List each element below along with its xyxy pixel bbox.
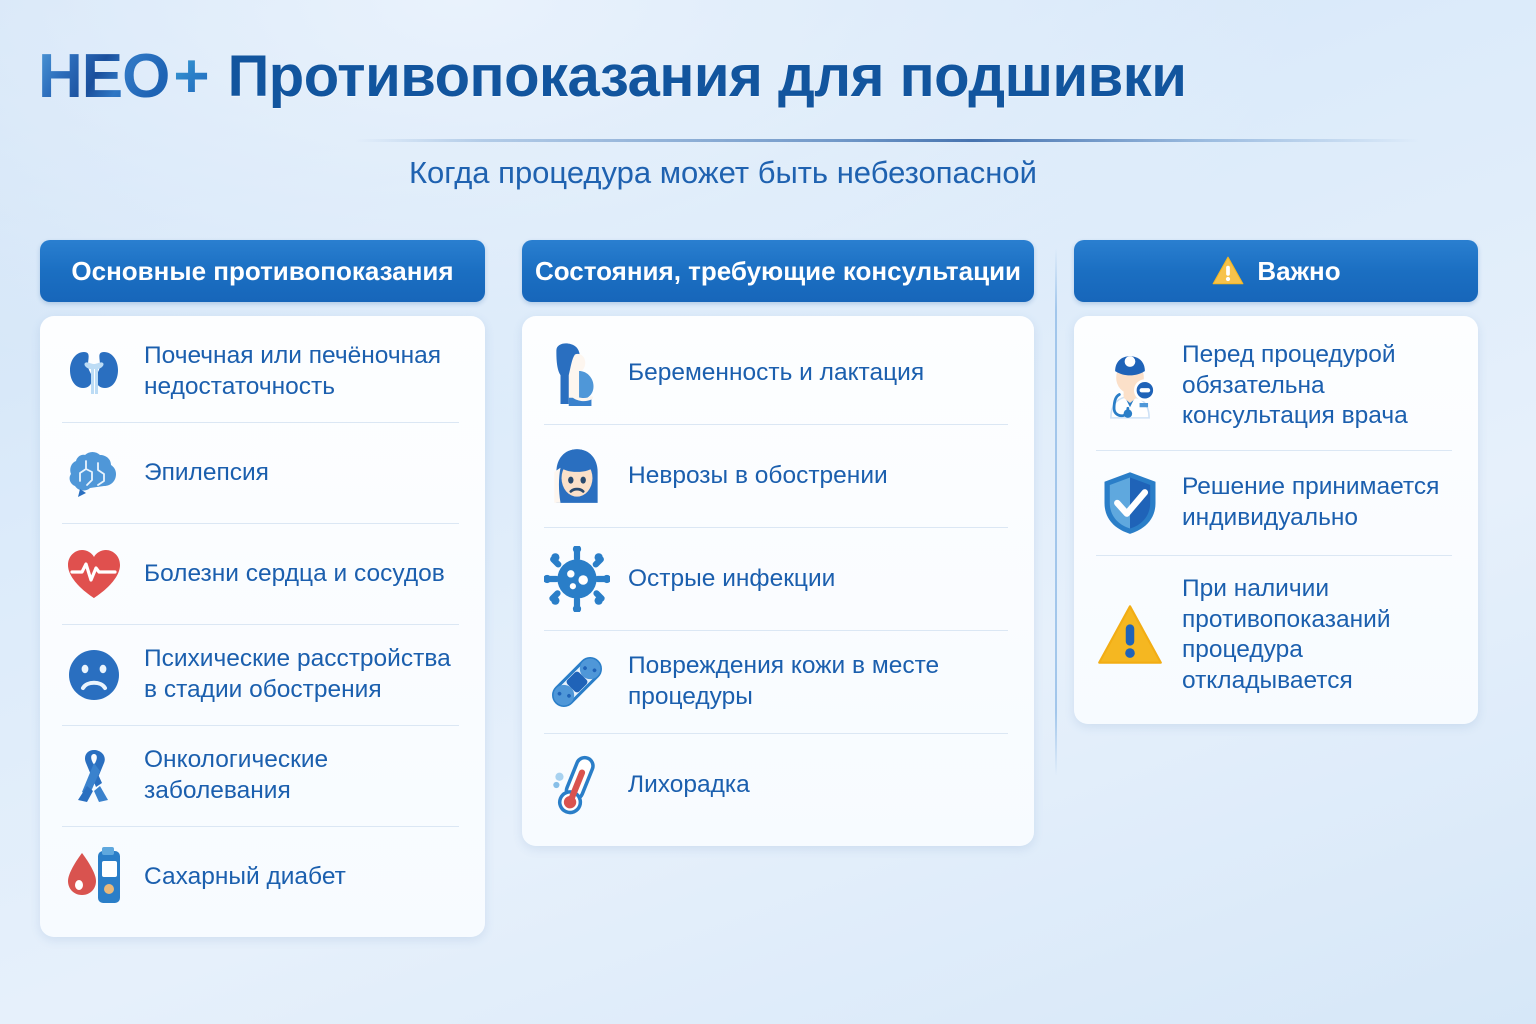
page-title: Противопоказания для подшивки [228, 48, 1187, 106]
list-item[interactable]: Повреждения кожи в месте процедуры [544, 631, 1008, 734]
column-header-label: Важно [1257, 256, 1340, 287]
brain-icon [62, 441, 126, 505]
list-item-label: Онкологические заболевания [144, 745, 459, 806]
list-item-label: Болезни сердца и сосудов [144, 559, 445, 590]
list-item[interactable]: Неврозы в обострении [544, 425, 1008, 528]
list-item[interactable]: Психические расстройства в стадии обостр… [62, 625, 459, 726]
list-item[interactable]: Острые инфекции [544, 528, 1008, 631]
page-header: HEO + Противопоказания для подшивки Когд… [0, 0, 1536, 210]
brand-and-title: HEO + Противопоказания для подшивки [38, 46, 1186, 108]
list-item-label: Неврозы в обострении [628, 461, 888, 492]
list-item[interactable]: Сахарный диабет [62, 827, 459, 927]
column-header-label: Основные противопоказания [71, 256, 453, 287]
list-item-label: Острые инфекции [628, 564, 835, 595]
kidneys-icon [62, 340, 126, 404]
list-item[interactable]: Онкологические заболевания [62, 726, 459, 827]
column-header-main-contraindications: Основные противопоказания [40, 240, 485, 302]
list-item-label: Психические расстройства в стадии обостр… [144, 644, 459, 705]
list-item[interactable]: Эпилепсия [62, 423, 459, 524]
heart-pulse-icon [62, 542, 126, 606]
list-item-label: Эпилепсия [144, 458, 269, 489]
column-header-label: Состояния, требующие консультации [535, 256, 1021, 287]
list-item[interactable]: Болезни сердца и сосудов [62, 524, 459, 625]
column-header-consultation-required: Состояния, требующие консультации [522, 240, 1034, 302]
brand-logo: HEO + [38, 46, 210, 108]
warning-triangle-icon [1211, 254, 1245, 288]
warning-triangle-icon [1096, 601, 1164, 669]
glucometer-blood-drop-icon [62, 845, 126, 909]
doctor-icon [1096, 352, 1164, 420]
pregnant-woman-icon [544, 340, 610, 406]
column-body-important: Перед процедурой обязательна консультаци… [1074, 316, 1478, 724]
column-body-consultation-required: Беременность и лактация Неврозы в обостр… [522, 316, 1034, 846]
list-item-label: Почечная или печёночная недостаточность [144, 341, 459, 402]
list-item-label: При наличии противопоказаний процедура о… [1182, 574, 1452, 697]
list-item-label: Лихорадка [628, 770, 750, 801]
list-item-label: Повреждения кожи в месте процедуры [628, 651, 1008, 712]
column-divider [1055, 248, 1057, 776]
list-item-label: Решение принимается индивидуально [1182, 472, 1452, 533]
bandage-icon [544, 649, 610, 715]
list-item[interactable]: Решение принимается индивидуально [1096, 451, 1452, 556]
page-subtitle: Когда процедура может быть небезопасной [0, 155, 1446, 191]
column-body-main-contraindications: Почечная или печёночная недостаточность … [40, 316, 485, 937]
list-item[interactable]: Перед процедурой обязательна консультаци… [1096, 322, 1452, 451]
list-item-label: Перед процедурой обязательна консультаци… [1182, 340, 1452, 432]
awareness-ribbon-icon [62, 744, 126, 808]
column-important: Важно Перед процедурой обязательна [1074, 240, 1478, 724]
list-item[interactable]: При наличии противопоказаний процедура о… [1096, 556, 1452, 715]
column-main-contraindications: Основные противопоказания Почечная или п… [40, 240, 485, 937]
sad-face-icon [62, 643, 126, 707]
logo-text: HEO [38, 46, 169, 108]
shield-check-icon [1096, 469, 1164, 537]
list-item-label: Беременность и лактация [628, 358, 924, 389]
column-consultation-required: Состояния, требующие консультации Береме… [522, 240, 1034, 846]
list-item[interactable]: Беременность и лактация [544, 322, 1008, 425]
column-header-important: Важно [1074, 240, 1478, 302]
virus-icon [544, 546, 610, 612]
logo-plus-icon: + [173, 46, 209, 108]
list-item-label: Сахарный диабет [144, 862, 346, 893]
sad-woman-icon [544, 443, 610, 509]
thermometer-icon [544, 752, 610, 818]
title-separator [355, 139, 1420, 142]
list-item[interactable]: Лихорадка [544, 734, 1008, 836]
list-item[interactable]: Почечная или печёночная недостаточность [62, 322, 459, 423]
